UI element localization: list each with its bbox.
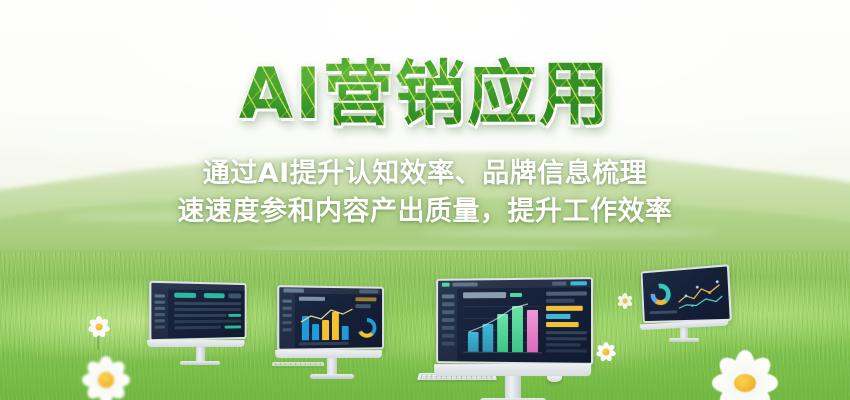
metric-bar <box>546 306 583 311</box>
table-row[interactable] <box>174 320 241 324</box>
nav-item[interactable] <box>442 310 454 314</box>
scatter-and-trend-plot <box>676 275 725 312</box>
monitor-1-foot <box>180 361 220 365</box>
table-status <box>225 325 241 328</box>
page-title: AI营销应用 <box>239 55 611 133</box>
kpi-card <box>355 297 376 301</box>
metric-label <box>546 291 587 295</box>
header-button[interactable] <box>552 281 566 285</box>
flower-core <box>98 372 114 388</box>
metric-bar <box>546 314 570 319</box>
monitor-3[interactable] <box>434 278 592 400</box>
donut-chart <box>648 281 673 308</box>
daisy-right-large <box>706 344 784 400</box>
monitor-1[interactable] <box>150 282 250 365</box>
title-block: AI营销应用 AI营销应用 <box>0 55 850 133</box>
metric-label <box>546 299 574 303</box>
app-logo-icon <box>442 283 450 287</box>
metric-row <box>546 337 587 340</box>
logo-chip <box>283 288 304 292</box>
breadcrumb <box>452 282 477 286</box>
nav-item[interactable] <box>442 326 454 330</box>
ai-marketing-banner: AI营销应用 AI营销应用 通过AI提升认知效率、品牌信息梳理 速速度参和内容产… <box>0 0 850 400</box>
monitor-4-screen[interactable] <box>641 264 732 323</box>
chart-badge <box>510 293 522 297</box>
nav-item[interactable] <box>155 325 165 328</box>
chart-trend-line <box>465 300 544 336</box>
table-row[interactable] <box>174 326 221 330</box>
metric-row <box>546 343 581 346</box>
monitor-1-neck <box>196 347 205 361</box>
nav-item[interactable] <box>282 314 291 317</box>
chart-axis <box>463 352 542 354</box>
chart-title <box>299 297 325 301</box>
monitor-4-neck <box>680 328 688 338</box>
monitor-1-chin <box>147 340 244 347</box>
kpi-card <box>355 304 370 308</box>
metric-row <box>546 349 587 352</box>
table-row[interactable] <box>174 308 241 311</box>
nav-item[interactable] <box>155 307 165 310</box>
monitor-4[interactable] <box>638 268 730 342</box>
header-primary-button[interactable] <box>570 281 586 285</box>
flower-core <box>623 299 628 304</box>
monitor-2-screen[interactable] <box>277 285 384 351</box>
nav-item[interactable] <box>155 319 165 322</box>
daisy-left-large <box>78 352 134 400</box>
user-chip[interactable] <box>359 289 378 293</box>
monitor-3-screen[interactable] <box>436 277 593 365</box>
nav-item[interactable] <box>442 294 454 298</box>
nav-item[interactable] <box>282 307 291 310</box>
nav-item[interactable] <box>282 300 291 303</box>
nav-item[interactable] <box>442 318 454 322</box>
action-button[interactable] <box>228 293 241 298</box>
flower-core <box>603 349 610 356</box>
chart-title-bar <box>463 292 506 298</box>
flower-core <box>734 374 756 392</box>
nav-item[interactable] <box>282 328 291 331</box>
metric-row <box>546 331 587 334</box>
nav-item[interactable] <box>442 302 454 306</box>
table-row[interactable] <box>174 302 241 305</box>
monitor-4-foot <box>669 338 699 342</box>
nav-item[interactable] <box>155 313 165 316</box>
daisy-left-small <box>86 314 112 340</box>
monitor-2-chin <box>275 350 382 358</box>
monitor-1-screen[interactable] <box>149 281 246 342</box>
nav-item[interactable] <box>155 294 165 297</box>
flower-core <box>96 324 103 331</box>
subtitle-line-1: 通过AI提升认知效率、品牌信息梳理 <box>0 155 850 193</box>
legend-strip <box>299 342 349 346</box>
monitor-3-neck <box>505 376 521 398</box>
daisy-center <box>594 340 618 364</box>
subtitle-block: 通过AI提升认知效率、品牌信息梳理 速速度参和内容产出质量，提升工作效率 <box>0 155 850 231</box>
nav-item[interactable] <box>155 301 165 304</box>
nav-item[interactable] <box>282 321 291 324</box>
subtitle-line-2: 速速度参和内容产出质量，提升工作效率 <box>0 193 850 231</box>
nav-item[interactable] <box>442 334 454 338</box>
chart-bar <box>342 326 349 340</box>
legend-strip <box>650 310 678 314</box>
table-status <box>228 314 241 317</box>
metric-bar <box>546 322 579 327</box>
monitor-2-foot <box>310 374 354 379</box>
trend-line-overlay <box>299 306 355 328</box>
action-button[interactable] <box>204 293 225 298</box>
action-button[interactable] <box>174 293 196 298</box>
monitor-3-chin <box>434 364 591 376</box>
daisy-upper-right <box>616 292 634 310</box>
nav-item[interactable] <box>442 342 454 346</box>
table-row[interactable] <box>174 314 226 317</box>
monitor-2-neck <box>327 358 337 374</box>
donut-chart <box>355 316 378 340</box>
monitor-2[interactable] <box>278 286 386 379</box>
